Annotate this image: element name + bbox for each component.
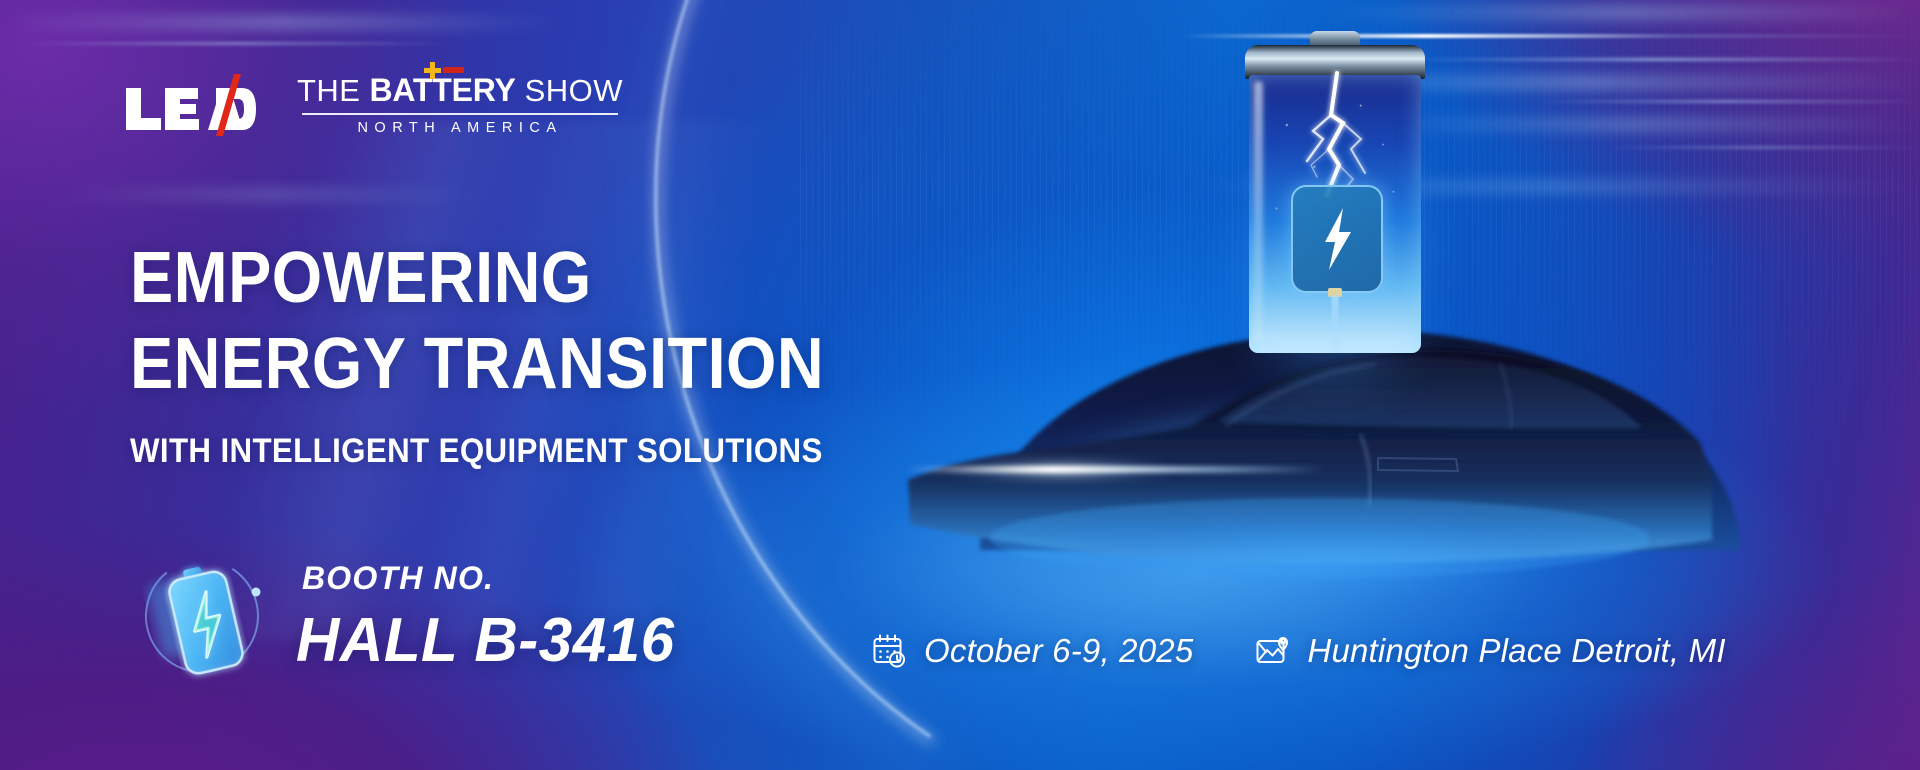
sub-headline: WITH INTELLIGENT EQUIPMENT SOLUTIONS [130, 432, 823, 471]
plus-icon [424, 62, 441, 79]
logo-word-battery: BATTERY [369, 74, 515, 106]
headline-block: EMPOWERING ENERGY TRANSITION [130, 244, 901, 400]
headline-line-2: ENERGY TRANSITION [130, 330, 824, 400]
booth-label: BOOTH NO. [302, 562, 686, 594]
logo-group: THE BATTERY SHOW NORTH AMERICA [124, 74, 620, 136]
map-pin-icon [1255, 633, 1291, 669]
booth-number: HALL B-3416 [296, 608, 675, 673]
calendar-clock-icon [872, 633, 908, 669]
car-underglow [930, 520, 1730, 650]
lightning-bolt-icon [1316, 208, 1358, 270]
charging-badge [1291, 185, 1383, 293]
battery-show-logo[interactable]: THE BATTERY SHOW NORTH AMERICA [300, 74, 620, 136]
car-headlight-beam [905, 466, 1325, 473]
event-date-text: October 6-9, 2025 [924, 632, 1193, 670]
logo-region-label: NORTH AMERICA [300, 121, 620, 136]
glowing-battery-icon [130, 536, 280, 696]
booth-block: BOOTH NO. HALL B-3416 [130, 536, 686, 696]
event-location-text: Huntington Place Detroit, MI [1307, 632, 1725, 670]
event-info-row: October 6-9, 2025 Huntington Place Detro… [872, 632, 1726, 670]
event-location-item: Huntington Place Detroit, MI [1255, 632, 1725, 670]
event-date-item: October 6-9, 2025 [872, 632, 1193, 670]
logo-word-the: THE [297, 75, 361, 106]
headline-line-1: EMPOWERING [130, 244, 824, 314]
charging-cord [1332, 295, 1339, 353]
lead-logo[interactable] [124, 74, 256, 136]
minus-icon [443, 67, 464, 73]
battery-cell-graphic [1245, 45, 1425, 355]
logo-divider [302, 113, 618, 115]
logo-word-show: SHOW [525, 75, 623, 106]
battery-show-promo-banner: THE BATTERY SHOW NORTH AMERICA EMPOWERIN… [0, 0, 1920, 770]
